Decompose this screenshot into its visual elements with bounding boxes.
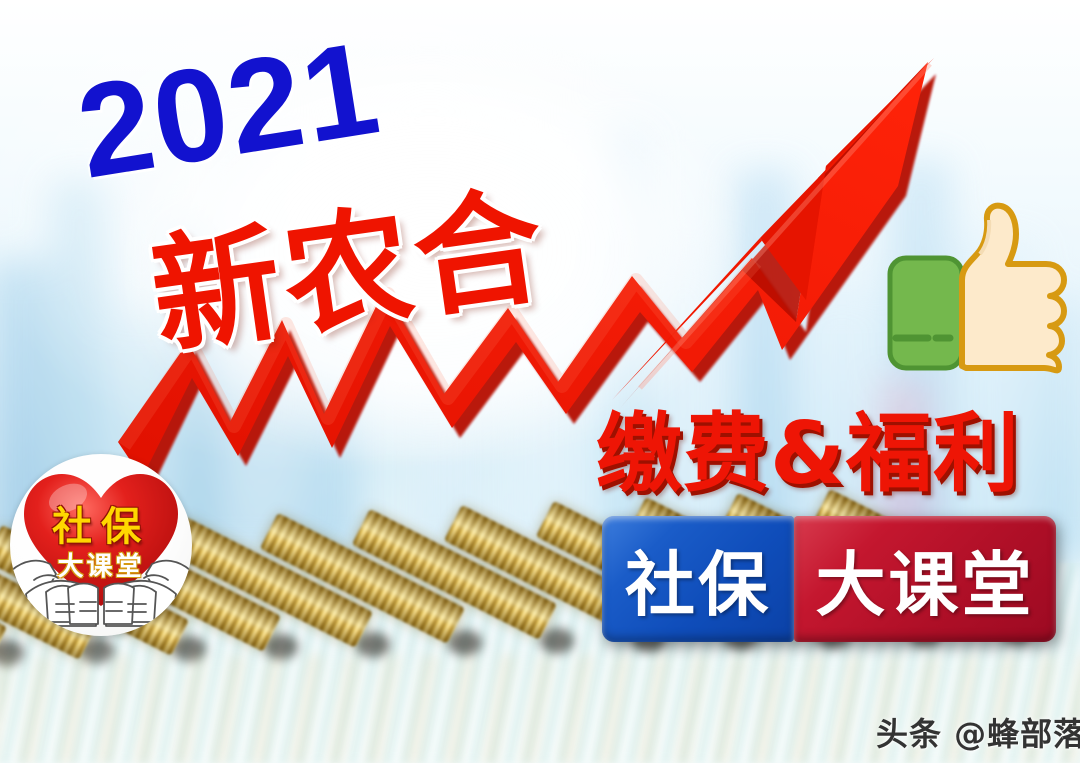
thumbs-up-icon <box>884 196 1074 378</box>
logo-primary-text: 社保 <box>10 494 192 552</box>
badge-left-label[interactable]: 社保 <box>602 516 794 642</box>
subheading-text: 缴费&福利 <box>596 383 1020 508</box>
poster-canvas: 2021 新农合 缴费&福利 社保 大课堂 <box>0 0 1080 763</box>
heart-in-hands-logo[interactable]: 社保 大课堂 <box>10 454 192 636</box>
watermark-text: 头条 @蜂部落 <box>876 709 1080 755</box>
logo-secondary-text: 大课堂 <box>10 546 192 583</box>
badge-right-label[interactable]: 大课堂 <box>794 516 1056 642</box>
brand-badge[interactable]: 社保 大课堂 <box>602 516 1056 642</box>
